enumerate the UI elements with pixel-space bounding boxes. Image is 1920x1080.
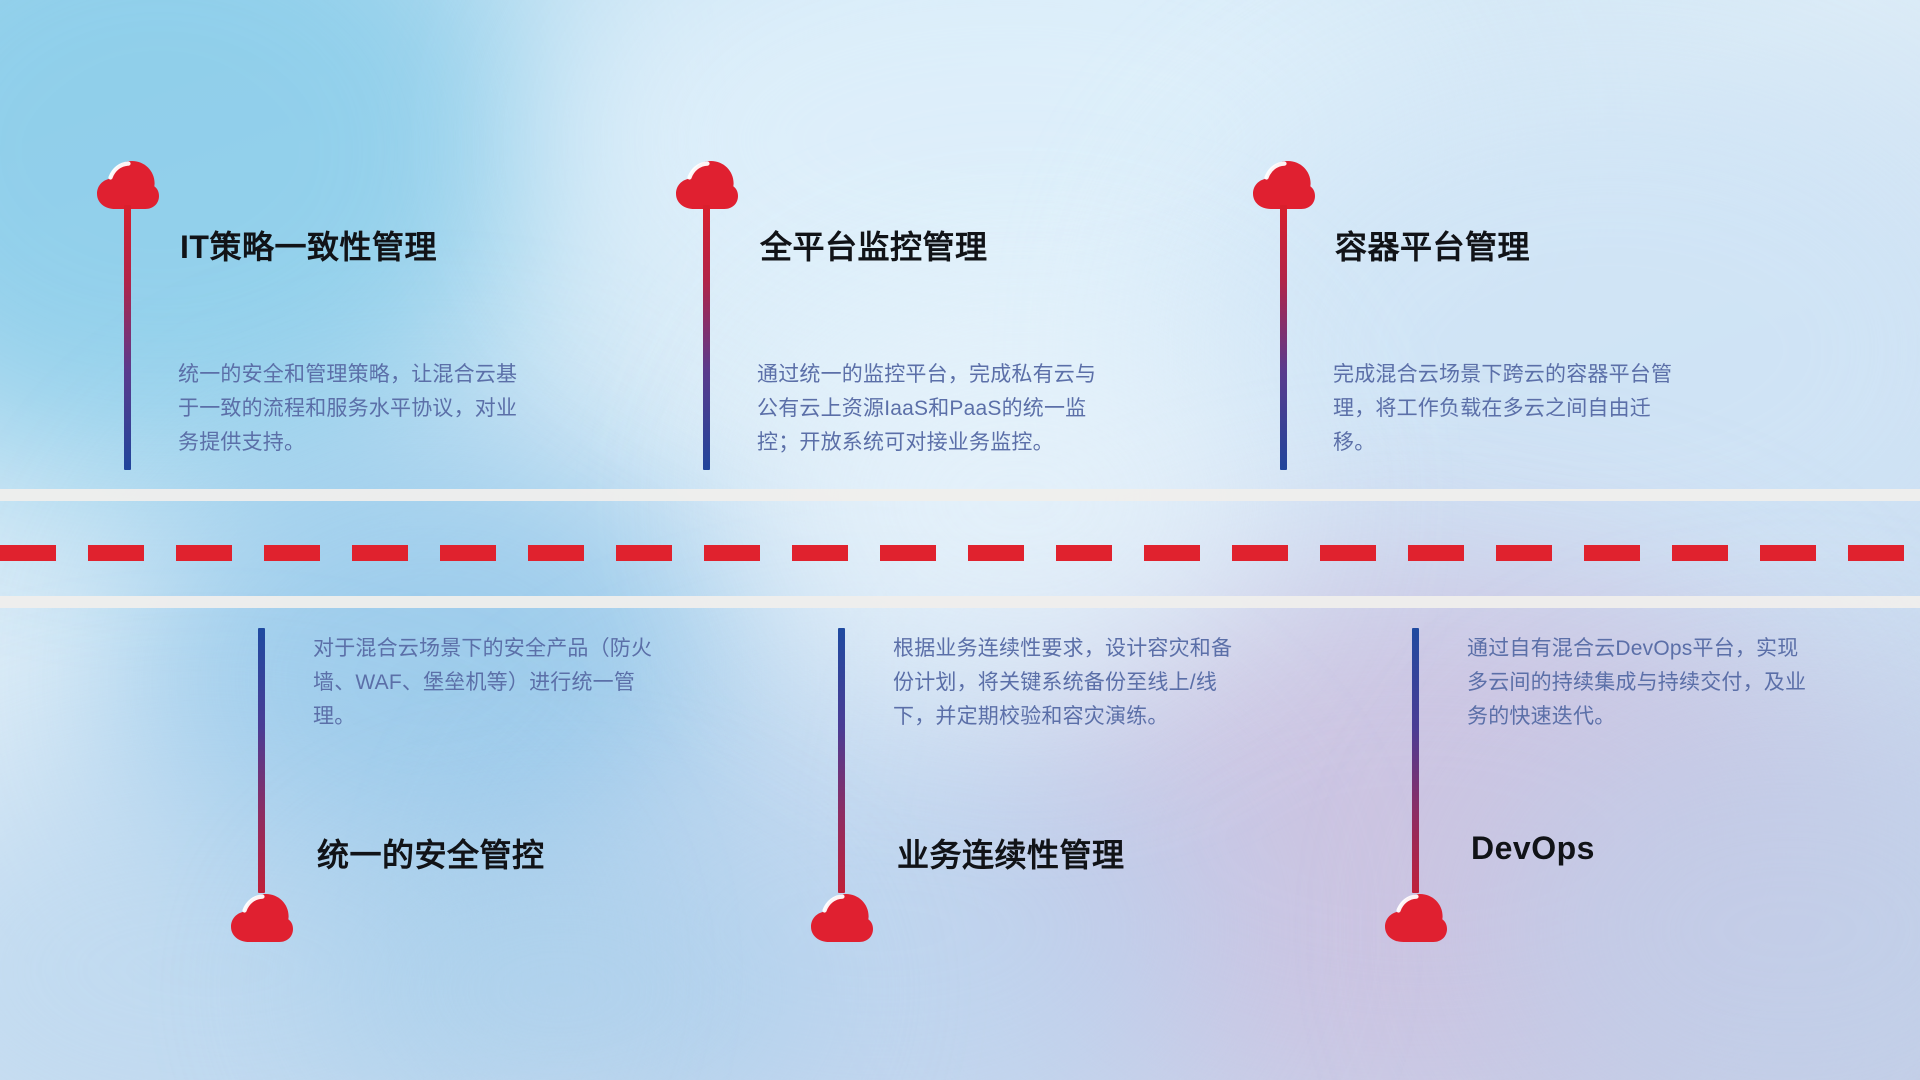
connector-stem [703, 205, 710, 470]
background-blob [300, 840, 820, 1080]
bottom-item-body: 通过自有混合云DevOps平台，实现多云间的持续集成与持续交付，及业务的快速迭代… [1467, 632, 1817, 734]
bottom-item-body: 对于混合云场景下的安全产品（防火墙、WAF、堡垒机等）进行统一管理。 [313, 632, 663, 734]
infographic-canvas: IT策略一致性管理 统一的安全和管理策略，让混合云基于一致的流程和服务水平协议，… [0, 0, 1920, 1080]
bottom-item-title: 统一的安全管控 [317, 830, 545, 876]
road-edge-bottom [0, 596, 1920, 608]
top-item-title: IT策略一致性管理 [180, 222, 437, 268]
bottom-item-body: 根据业务连续性要求，设计容灾和备份计划，将关键系统备份至线上/线下，并定期校验和… [893, 632, 1243, 734]
cloud-icon [1384, 893, 1448, 943]
connector-stem [258, 628, 265, 893]
road-edge-top [0, 489, 1920, 501]
cloud-icon [1252, 160, 1316, 210]
cloud-icon [230, 893, 294, 943]
top-item-body: 完成混合云场景下跨云的容器平台管理，将工作负载在多云之间自由迁移。 [1333, 358, 1683, 460]
bottom-item-title: 业务连续性管理 [897, 830, 1125, 876]
cloud-icon [96, 160, 160, 210]
background-blob [520, 700, 1240, 1080]
connector-stem [124, 205, 131, 470]
top-item-body: 通过统一的监控平台，完成私有云与公有云上资源IaaS和PaaS的统一监控；开放系… [757, 358, 1107, 460]
connector-stem [838, 628, 845, 893]
background-blob [1180, 40, 1920, 660]
top-item-title: 全平台监控管理 [760, 222, 988, 268]
connector-stem [1280, 205, 1287, 470]
bottom-item-title: DevOps [1471, 830, 1595, 867]
cloud-icon [675, 160, 739, 210]
top-item-title: 容器平台管理 [1335, 222, 1530, 268]
top-item-body: 统一的安全和管理策略，让混合云基于一致的流程和服务水平协议，对业务提供支持。 [178, 358, 528, 460]
road-center-dashes [0, 545, 1920, 561]
connector-stem [1412, 628, 1419, 893]
background-blob [1480, 700, 1920, 1080]
cloud-icon [810, 893, 874, 943]
